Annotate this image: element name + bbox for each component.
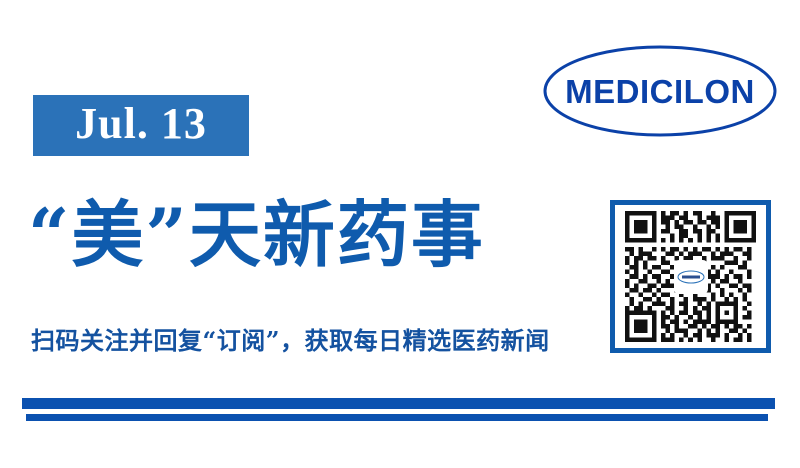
headline: “美”天新药事: [28, 186, 598, 284]
divider-rule-primary: [22, 398, 775, 409]
medicilon-logo: MEDICILON: [542, 44, 778, 138]
headline-text: “美”天新药事: [28, 199, 485, 271]
promo-banner: MEDICILON Jul. 13 “美”天新药事 扫码关注并回复“订阅”，获取…: [0, 0, 800, 468]
divider-rule-secondary: [26, 414, 768, 421]
date-badge: Jul. 13: [33, 95, 249, 156]
qr-center-logo: [674, 260, 708, 294]
subtitle: 扫码关注并回复“订阅”，获取每日精选医药新闻: [31, 324, 591, 358]
subtitle-text: 扫码关注并回复“订阅”，获取每日精选医药新闻: [31, 329, 550, 353]
medicilon-wordmark: MEDICILON: [565, 73, 755, 110]
date-badge-label: Jul. 13: [75, 102, 207, 150]
wechat-follow-qr-code[interactable]: [610, 200, 771, 353]
qr-canvas: [621, 211, 760, 342]
